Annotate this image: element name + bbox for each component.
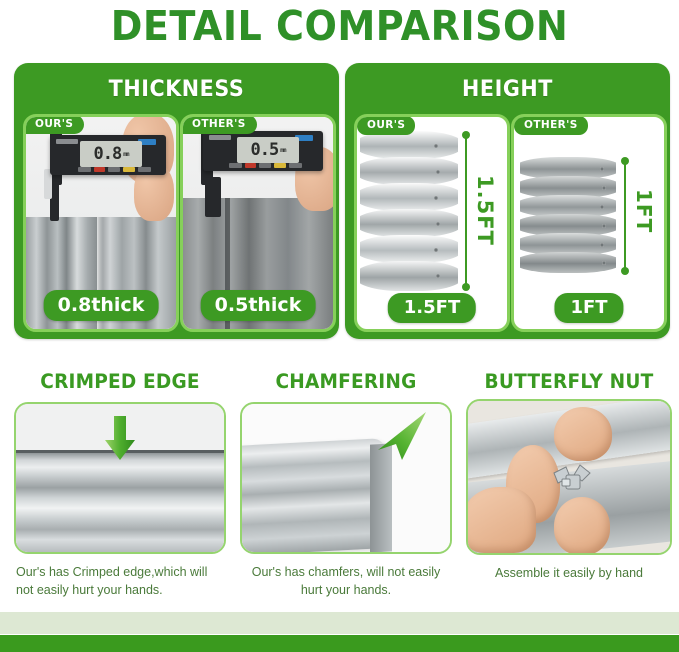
measure-line-ours xyxy=(465,135,467,287)
coiled-edging-ours xyxy=(360,131,458,291)
page-title: DETAIL COMPARISON xyxy=(24,2,655,50)
metal-tube xyxy=(16,450,224,552)
diagonal-arrow-icon xyxy=(372,410,428,462)
measure-label-others: 1FT xyxy=(632,189,656,233)
feature-crimped-edge: CRIMPED EDGE Our's has Crimped edge,whic… xyxy=(14,370,226,599)
coil-hole xyxy=(602,186,606,190)
coil-hole xyxy=(434,144,438,148)
caliper-btn-yellow xyxy=(123,167,135,172)
measure-label-ours: 1.5FT xyxy=(473,175,497,246)
caliper-reading-ours: 0.8 xyxy=(94,144,122,164)
caliper-btn-yellow xyxy=(274,163,286,168)
down-arrow-icon xyxy=(100,416,140,460)
coil-stripe xyxy=(360,261,458,291)
thickness-ours-badge: 0.8thick xyxy=(44,290,159,321)
height-others-tag: OTHER'S xyxy=(514,116,588,135)
measure-dot-top xyxy=(621,157,629,165)
coil-hole xyxy=(436,170,440,174)
coil-stripe xyxy=(360,183,458,211)
caliper-btn-zero xyxy=(138,167,151,172)
height-ours-badge: 1.5FT xyxy=(388,293,476,323)
thickness-others-tag: OTHER'S xyxy=(181,115,257,134)
coil-stripe xyxy=(360,157,458,185)
height-ours-tag: OUR'S xyxy=(357,116,415,135)
digital-caliper-icon: 0.5 mm xyxy=(203,131,323,171)
footer-pale-strip xyxy=(0,612,679,634)
caliper-btn-off xyxy=(78,167,91,172)
coil-hole xyxy=(434,248,438,252)
thickness-ours-tag: OUR'S xyxy=(24,115,84,134)
feature-caption-butterfly-nut: Assemble it easily by hand xyxy=(466,564,672,582)
feature-butterfly-nut: BUTTERFLY NUT Assemble it easily by hand xyxy=(466,370,672,582)
caliper-brand-mark xyxy=(56,139,78,144)
height-ours-panel: 1.5FT OUR'S 1.5FT xyxy=(354,114,510,332)
coil-hole xyxy=(602,261,606,265)
feature-title-chamfering: CHAMFERING xyxy=(245,370,446,393)
caliper-display-ours: 0.8 mm xyxy=(80,141,142,167)
feature-chamfering: CHAMFERING Our's has chamfers, will not … xyxy=(240,370,452,599)
thickness-ours-panel: 0.8 mm OUR'S 0.8thick xyxy=(23,114,179,332)
thickness-others-panel: 0.5 mm OTHER'S 0.5thick xyxy=(180,114,336,332)
metal-bar xyxy=(240,438,386,554)
feature-title-butterfly-nut: BUTTERFLY NUT xyxy=(471,370,667,393)
caliper-reading-others: 0.5 xyxy=(251,140,279,160)
measure-dot-bottom xyxy=(462,283,470,291)
coil-hole xyxy=(600,243,604,247)
measure-dot-top xyxy=(462,131,470,139)
feature-title-crimped-edge: CRIMPED EDGE xyxy=(19,370,220,393)
footer-green-strip xyxy=(0,635,679,652)
caliper-display-others: 0.5 mm xyxy=(237,137,299,163)
feature-image-crimped-edge xyxy=(14,402,226,554)
feature-image-chamfering xyxy=(240,402,452,554)
feature-image-butterfly-nut xyxy=(466,399,672,555)
card-title-thickness: THICKNESS xyxy=(24,77,330,102)
thickness-others-badge: 0.5thick xyxy=(201,290,316,321)
coil-hole xyxy=(602,224,606,228)
card-title-height: HEIGHT xyxy=(355,77,661,102)
coiled-edging-others xyxy=(520,157,616,273)
infographic-root: DETAIL COMPARISON THICKNESS 0.8 mm xyxy=(0,0,679,652)
caliper-btn-on xyxy=(108,167,120,172)
coil-hole xyxy=(434,196,438,200)
caliper-btn-red xyxy=(245,163,256,168)
coil-hole xyxy=(436,222,440,226)
digital-caliper-icon: 0.8 mm xyxy=(50,135,166,175)
hand-lower-finger xyxy=(554,497,610,555)
caliper-unit-ours: mm xyxy=(123,151,128,158)
coil-stripe xyxy=(360,131,458,159)
caliper-brand-mark xyxy=(209,135,231,140)
feature-caption-chamfering: Our's has chamfers, will not easily hurt… xyxy=(240,563,452,599)
hand-thumb xyxy=(466,487,536,553)
caliper-btn-red xyxy=(94,167,105,172)
feature-caption-crimped-edge: Our's has Crimped edge,which will not ea… xyxy=(14,563,226,599)
caliper-btn-zero xyxy=(289,163,302,168)
coil-hole xyxy=(436,274,440,278)
comparison-card-height: HEIGHT 1.5FT OUR'S xyxy=(345,63,670,339)
coil-hole xyxy=(600,167,604,171)
caliper-unit-others: mm xyxy=(280,147,285,154)
height-others-panel: 1FT OTHER'S 1FT xyxy=(511,114,667,332)
measure-dot-bottom xyxy=(621,267,629,275)
caliper-btn-on xyxy=(259,163,271,168)
hand-upper-finger xyxy=(554,407,612,461)
wing-nut-icon xyxy=(550,461,596,501)
measure-line-others xyxy=(624,161,626,271)
comparison-card-thickness: THICKNESS 0.8 mm xyxy=(14,63,339,339)
coil-hole xyxy=(600,205,604,209)
coil-stripe xyxy=(360,235,458,263)
caliper-btn-off xyxy=(229,163,242,168)
caliper-jaw-lower xyxy=(205,177,221,217)
coil-stripe xyxy=(360,209,458,237)
height-others-badge: 1FT xyxy=(554,293,623,323)
